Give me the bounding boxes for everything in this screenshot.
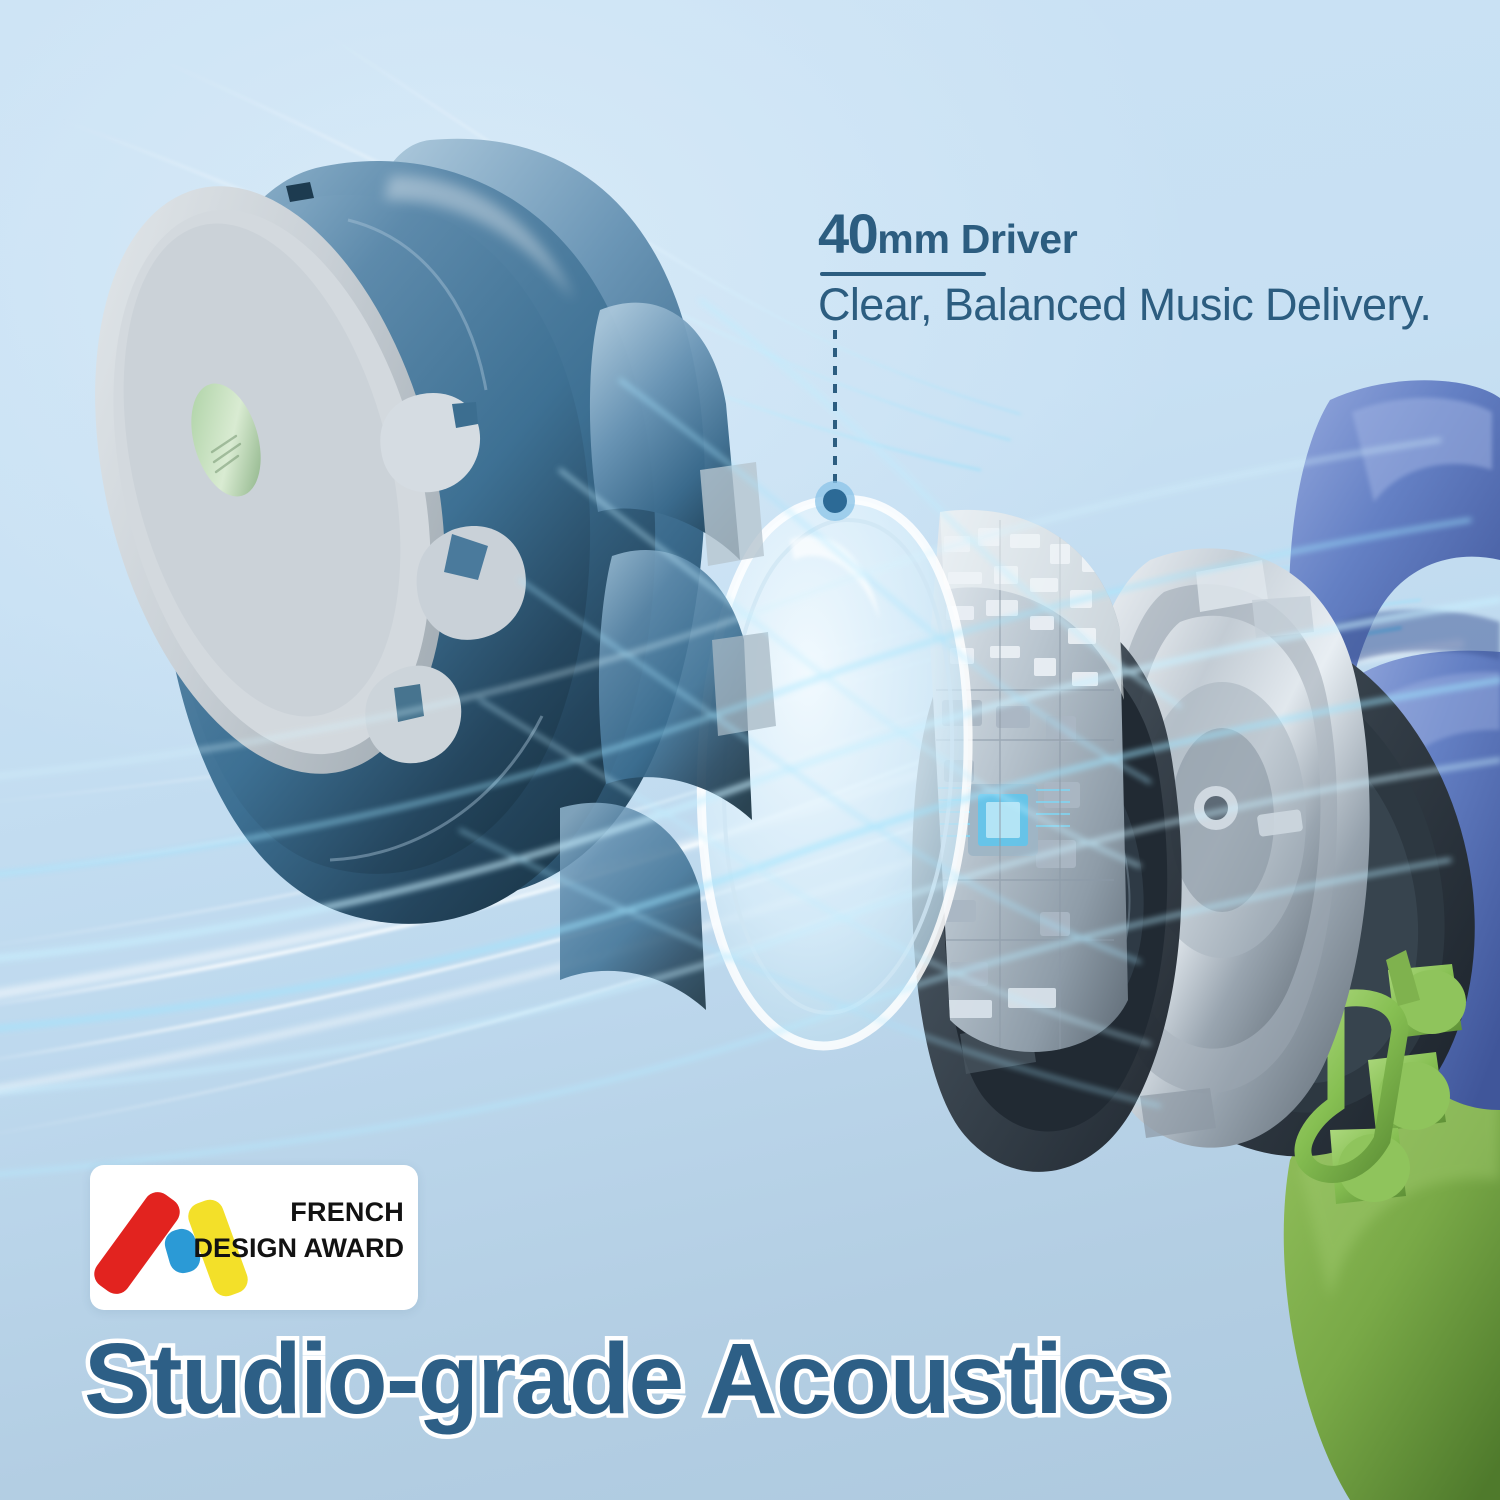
driver-size-unit: mm bbox=[877, 216, 949, 262]
page-title: Studio-grade Acoustics bbox=[84, 1322, 1170, 1437]
driver-noun: Driver bbox=[950, 216, 1078, 262]
headband-arm bbox=[1289, 380, 1500, 1110]
callout-leader-line bbox=[833, 330, 837, 498]
callout-subtitle: Clear, Balanced Music Delivery. bbox=[818, 279, 1438, 331]
banner-stage: 40mm Driver Clear, Balanced Music Delive… bbox=[0, 0, 1500, 1500]
driver-callout: 40mm Driver Clear, Balanced Music Delive… bbox=[818, 205, 1438, 331]
right-earcup-inner-dish bbox=[1011, 580, 1500, 1201]
callout-divider bbox=[820, 272, 986, 276]
callout-anchor-dot bbox=[815, 481, 855, 521]
badge-line-2: DESIGN AWARD bbox=[190, 1231, 404, 1267]
logo-oval bbox=[179, 375, 272, 504]
circuit-board bbox=[930, 510, 1128, 1052]
earcup-rear-connector bbox=[560, 303, 776, 1010]
right-earcup-body bbox=[1284, 1048, 1500, 1500]
driver-housing-plate bbox=[1077, 548, 1370, 1147]
glow-light-rays bbox=[0, 300, 1500, 1176]
earcup-shell bbox=[38, 139, 705, 924]
acoustic-diaphragm-disc bbox=[701, 500, 968, 1046]
callout-line-1: 40mm Driver bbox=[818, 205, 1438, 263]
control-buttons bbox=[1303, 950, 1466, 1204]
badge-line-1: FRENCH bbox=[190, 1195, 404, 1231]
french-design-award-badge: FRENCH DESIGN AWARD bbox=[90, 1165, 418, 1310]
badge-text-block: FRENCH DESIGN AWARD bbox=[190, 1195, 404, 1266]
driver-size-value: 40 bbox=[818, 202, 877, 265]
driver-voice-coil bbox=[912, 604, 1182, 1172]
